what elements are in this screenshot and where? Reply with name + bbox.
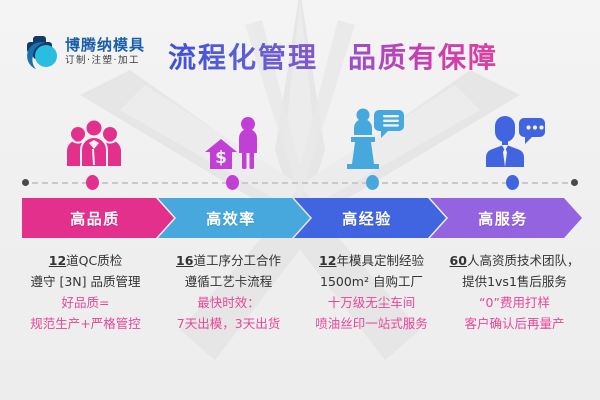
banner-experience[interactable]: 高经验 bbox=[294, 198, 446, 238]
timeline-end-dot bbox=[571, 179, 578, 186]
timeline-dot-service bbox=[506, 175, 519, 190]
banner-label-efficiency: 高效率 bbox=[206, 208, 256, 229]
banner-row: 高品质 高效率 高经验 高服务 bbox=[22, 198, 578, 238]
detail-line: 最快时效： bbox=[157, 292, 300, 313]
detail-column-efficiency: 16道工序分工合作 遵循工艺卡流程 最快时效： 7天出模，3天出货 bbox=[157, 250, 300, 334]
detail-line: 16道工序分工合作 bbox=[157, 250, 300, 271]
detail-line: 1500m² 自购工厂 bbox=[300, 271, 443, 292]
svg-text:$: $ bbox=[215, 148, 227, 168]
detail-line: 7天出模，3天出货 bbox=[157, 313, 300, 334]
timeline-dot-quality bbox=[86, 175, 99, 190]
detail-column-quality: 12道QC质检 遵守 [3N] 品质管理 好品质= 规范生产+严格管控 bbox=[14, 250, 157, 334]
banner-label-experience: 高经验 bbox=[342, 208, 392, 229]
detail-line: “0”费用打样 bbox=[443, 292, 586, 313]
detail-line: 60人高资质技术团队， bbox=[443, 250, 586, 271]
banner-quality[interactable]: 高品质 bbox=[22, 198, 174, 238]
icon-cell-efficiency: $ bbox=[164, 100, 304, 172]
speaker-podium-chat-icon bbox=[341, 106, 407, 172]
detail-line: 喷油丝印一站式服务 bbox=[300, 313, 443, 334]
logo-company-name: 博腾纳模具 bbox=[65, 38, 145, 53]
detail-line: 好品质= bbox=[14, 292, 157, 313]
detail-line: 12年模具定制经验 bbox=[300, 250, 443, 271]
boteng-cloud-logo-icon bbox=[26, 34, 60, 70]
detail-column-experience: 12年模具定制经验 1500m² 自购工厂 十万级无尘车间 喷油丝印一站式服务 bbox=[300, 250, 443, 334]
detail-line: 规范生产+严格管控 bbox=[14, 313, 157, 334]
team-group-icon bbox=[64, 114, 124, 172]
header: 博腾纳模具 订制·注塑·加工 流程化管理 品质有保障 bbox=[0, 0, 600, 96]
support-person-chat-icon bbox=[482, 112, 546, 172]
detail-line: 客户确认后再量产 bbox=[443, 313, 586, 334]
detail-columns: 12道QC质检 遵守 [3N] 品质管理 好品质= 规范生产+严格管控 16道工… bbox=[14, 250, 586, 365]
logo-tagline: 订制·注塑·加工 bbox=[65, 56, 145, 66]
logo[interactable]: 博腾纳模具 订制·注塑·加工 bbox=[26, 34, 145, 70]
detail-column-service: 60人高资质技术团队， 提供1vs1售后服务 “0”费用打样 客户确认后再量产 bbox=[443, 250, 586, 334]
infographic-canvas: 博腾纳模具 订制·注塑·加工 流程化管理 品质有保障 bbox=[0, 0, 600, 400]
detail-line: 十万级无尘车间 bbox=[300, 292, 443, 313]
detail-line: 12道QC质检 bbox=[14, 250, 157, 271]
banner-label-service: 高服务 bbox=[478, 208, 528, 229]
timeline bbox=[0, 176, 600, 190]
banner-label-quality: 高品质 bbox=[70, 208, 120, 229]
banner-service[interactable]: 高服务 bbox=[430, 198, 582, 238]
icon-row: $ bbox=[0, 100, 600, 172]
timeline-dot-efficiency bbox=[226, 175, 239, 190]
factory-house-person-icon: $ bbox=[203, 114, 265, 172]
detail-line: 遵循工艺卡流程 bbox=[157, 271, 300, 292]
icon-cell-service bbox=[444, 100, 584, 172]
timeline-dashed-line bbox=[22, 182, 578, 184]
timeline-start-dot bbox=[22, 179, 29, 186]
icon-cell-quality bbox=[24, 100, 164, 172]
detail-line: 提供1vs1售后服务 bbox=[443, 271, 586, 292]
timeline-dot-experience bbox=[366, 175, 379, 190]
icon-cell-experience bbox=[304, 100, 444, 172]
detail-line: 遵守 [3N] 品质管理 bbox=[14, 271, 157, 292]
banner-efficiency[interactable]: 高效率 bbox=[158, 198, 310, 238]
page-title: 流程化管理 品质有保障 bbox=[168, 36, 508, 76]
